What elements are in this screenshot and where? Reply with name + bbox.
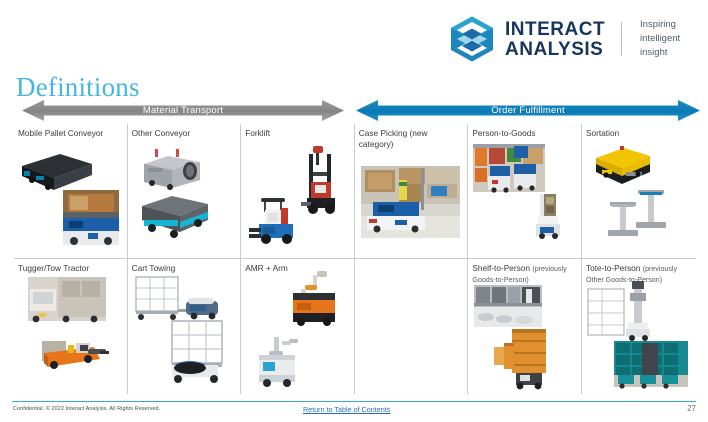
pallet-carrying-amr-photo	[63, 190, 119, 245]
orange-tow-tractor-photo	[42, 341, 109, 369]
cell-cart-towing[interactable]: Cart Towing	[128, 259, 242, 394]
material-transport-arrow-label: Material Transport	[22, 100, 344, 121]
tote-storage-grid-photo	[614, 341, 688, 389]
return-to-table-of-contents-link[interactable]: Return to Table of Contents	[303, 405, 390, 414]
cell-label-main: Case Picking (new	[359, 128, 428, 138]
cell-label: Tugger/Tow Tractor	[18, 263, 122, 274]
order-fulfillment-arrow: Order Fulfillment	[356, 100, 700, 121]
footer-divider	[12, 401, 696, 402]
yellow-tilt-tray-sorter-photo	[582, 124, 696, 258]
orange-shelf-carrying-robot-photo	[494, 329, 546, 389]
grid-row-2: Tugger/Tow Tractor	[14, 258, 696, 394]
roll-cage-cart-robot-photo	[172, 321, 222, 383]
grid-row-1: Mobile Pallet Conveyor	[14, 124, 696, 258]
tugger-train-photo	[14, 259, 127, 394]
cell-label: Case Picking (new category)	[359, 128, 463, 149]
tall-picking-robot-photo	[536, 194, 560, 239]
brand-logo: INTERACT ANALYSIS Inspiring intelligent …	[448, 15, 708, 63]
cell-empty	[355, 259, 469, 394]
hexagon-cube-logo-icon	[448, 15, 496, 63]
cell-label: Forklift	[245, 128, 349, 139]
order-fulfillment-arrow-label: Order Fulfillment	[356, 100, 700, 121]
cart-tow-robot-photo	[128, 259, 241, 394]
material-transport-arrow: Material Transport	[22, 100, 344, 121]
cell-case-picking[interactable]: Case Picking (new category)	[355, 124, 469, 258]
page-number: 27	[687, 404, 696, 413]
cell-label: Shelf-to-Person (previously Goods-to-Per…	[472, 263, 576, 285]
brand-name-line2: ANALYSIS	[505, 40, 605, 59]
slide: INTERACT ANALYSIS Inspiring intelligent …	[0, 0, 708, 422]
brand-tagline-line1: Inspiring	[640, 18, 708, 32]
blue-counterbalance-forklift-photo	[249, 198, 293, 244]
cell-other-conveyor[interactable]: Other Conveyor	[128, 124, 242, 258]
cell-label: AMR + Arm	[245, 263, 349, 274]
shelf-aisle-robots-photo	[468, 124, 581, 258]
grey-conveyor-amr-photo	[128, 124, 241, 258]
definitions-grid: Mobile Pallet Conveyor	[14, 124, 696, 396]
brand-tagline: Inspiring intelligent insight	[640, 18, 708, 59]
footer-confidential-text: Confidential. © 2022 Interact Analysis. …	[13, 406, 160, 412]
cell-amr-plus-arm[interactable]: AMR + Arm	[241, 259, 355, 394]
red-black-reach-forklift-photo	[241, 124, 354, 258]
cell-label: Cart Towing	[132, 263, 236, 274]
brand-name-line1: INTERACT	[505, 20, 605, 39]
cell-label-second: category)	[359, 139, 394, 149]
logo-divider	[621, 22, 622, 56]
cell-label-main: Shelf-to-Person	[472, 263, 530, 273]
cell-label-main: Tote-to-Person	[586, 263, 640, 273]
cell-sortation[interactable]: Sortation	[582, 124, 696, 258]
cell-tote-to-person[interactable]: Tote-to-Person (previously Other Goods-t…	[582, 259, 696, 394]
page-title: Definitions	[16, 72, 140, 103]
cell-label: Other Conveyor	[132, 128, 236, 139]
brand-tagline-line2: intelligent insight	[640, 32, 708, 60]
cell-label: Tote-to-Person (previously Other Goods-t…	[586, 263, 691, 285]
cell-shelf-to-person[interactable]: Shelf-to-Person (previously Goods-to-Per…	[468, 259, 582, 394]
cell-label: Sortation	[586, 128, 691, 139]
black-flat-amr-photo	[14, 124, 127, 258]
cell-label: Person-to-Goods	[472, 128, 576, 139]
cell-forklift[interactable]: Forklift	[241, 124, 355, 258]
cell-tugger-tow-tractor[interactable]: Tugger/Tow Tractor	[14, 259, 128, 394]
cell-label: Mobile Pallet Conveyor	[18, 128, 122, 139]
silver-amr-with-arm-photo	[259, 337, 298, 387]
brand-wordmark: INTERACT ANALYSIS	[505, 20, 605, 59]
low-profile-conveyor-amr-photo	[142, 196, 208, 238]
orange-amr-with-arm-photo	[241, 259, 354, 394]
chrome-sortation-units-photo	[608, 190, 666, 236]
cell-person-to-goods[interactable]: Person-to-Goods	[468, 124, 582, 258]
cell-mobile-pallet-conveyor[interactable]: Mobile Pallet Conveyor	[14, 124, 128, 258]
